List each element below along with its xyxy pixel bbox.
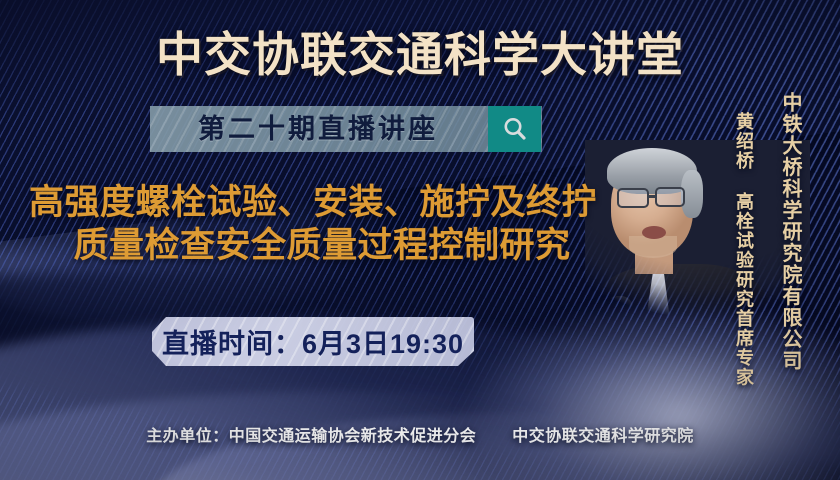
organizer-footer: 主办单位：中国交通运输协会新技术促进分会 中交协联交通科学研究院 (0, 422, 840, 446)
series-label: 第二十期直播讲座 (150, 106, 486, 152)
lecture-title: 高强度螺栓试验、安装、施拧及终拧 质量检查安全质量过程控制研究 (18, 182, 608, 268)
glasses-bridge (648, 195, 657, 198)
lecture-title-line-2: 质量检查安全质量过程控制研究 (18, 225, 608, 268)
glasses-right-lens (655, 187, 685, 207)
lecture-title-line-1: 高强度螺栓试验、安装、施拧及终拧 (18, 182, 608, 225)
search-icon (501, 115, 529, 143)
speaker-organization: 中铁大桥科学研究院有限公司 (776, 92, 805, 372)
speaker-chin (629, 236, 677, 258)
glasses-left-lens (617, 188, 649, 208)
organizer-secondary: 中交协联交通科学研究院 (512, 428, 694, 445)
speaker-name-title: 黄绍桥 高栓试验研究首席专家 (731, 112, 757, 387)
live-lecture-poster: 中交协联交通科学大讲堂 第二十期直播讲座 高强度螺栓试验、安装、施拧及终拧 质量… (0, 0, 840, 480)
speaker-mouth (642, 226, 666, 239)
live-time-text: 直播时间：6月3日19:30 (162, 322, 464, 361)
search-button[interactable] (488, 106, 541, 152)
page-title: 中交协联交通科学大讲堂 (0, 16, 840, 85)
series-band: 第二十期直播讲座 (150, 106, 542, 152)
organizer-primary: 主办单位：中国交通运输协会新技术促进分会 (146, 428, 476, 445)
live-time-badge: 直播时间：6月3日19:30 (152, 317, 474, 366)
